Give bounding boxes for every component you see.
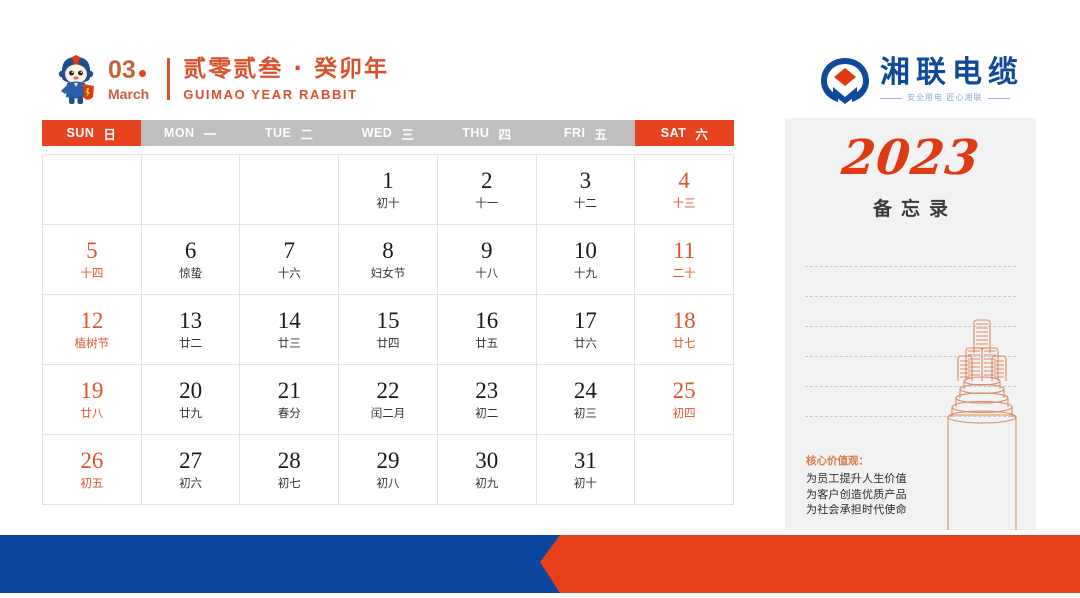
day-number: 20 bbox=[179, 379, 202, 403]
day-number: 30 bbox=[475, 449, 498, 473]
day-number: 15 bbox=[376, 309, 399, 333]
brand-text: 湘联电缆 安全用电 匠心湘联 bbox=[880, 58, 1024, 102]
day-number: 14 bbox=[278, 309, 301, 333]
day-number: 12 bbox=[80, 309, 103, 333]
core-values-title: 核心价值观： bbox=[806, 454, 986, 470]
day-cell[interactable]: 26初五 bbox=[43, 435, 142, 505]
day-number: 21 bbox=[278, 379, 301, 403]
day-cell[interactable]: 28初七 bbox=[240, 435, 339, 505]
day-cell[interactable]: 6惊蛰 bbox=[142, 225, 241, 295]
day-lunar-label: 廿二 bbox=[179, 338, 202, 350]
day-lunar-label: 春分 bbox=[278, 408, 301, 420]
day-cell[interactable]: 23初二 bbox=[438, 365, 537, 435]
day-cell[interactable]: 3十二 bbox=[537, 155, 636, 225]
weekday-cn: 一 bbox=[204, 124, 217, 143]
page-header: 03 March 贰零贰叁 · 癸卯年 GUIMAO YEAR RABBIT 湘… bbox=[0, 0, 1080, 118]
memo-label: 备忘录 bbox=[785, 194, 1036, 221]
core-values-block: 核心价值观： 为员工提升人生价值为客户创造优质产品为社会承担时代使命 bbox=[806, 454, 986, 518]
day-cell[interactable]: 29初八 bbox=[339, 435, 438, 505]
day-number: 19 bbox=[80, 379, 103, 403]
banner-left-block bbox=[0, 535, 560, 593]
weekday-en: FRI bbox=[564, 126, 586, 140]
day-cell[interactable]: 12植树节 bbox=[43, 295, 142, 365]
calendar: SUN日MON一TUE二WED三THU四FRI五SAT六 1初十2十一3十二4十… bbox=[42, 120, 734, 505]
day-number: 5 bbox=[86, 239, 98, 263]
day-number: 9 bbox=[481, 239, 493, 263]
brand-slogan-row: 安全用电 匠心湘联 bbox=[880, 94, 1024, 102]
day-cell[interactable]: 1初十 bbox=[339, 155, 438, 225]
weekday-cn: 五 bbox=[595, 124, 608, 143]
day-lunar-label: 初九 bbox=[475, 478, 498, 490]
day-lunar-label: 初三 bbox=[574, 408, 597, 420]
day-lunar-label: 初二 bbox=[475, 408, 498, 420]
day-cell[interactable]: 4十三 bbox=[635, 155, 734, 225]
day-cell-empty bbox=[43, 155, 142, 225]
month-number-text: 03 bbox=[108, 58, 136, 83]
weekday-cn: 四 bbox=[498, 124, 511, 143]
day-number: 3 bbox=[580, 169, 592, 193]
day-cell[interactable]: 14廿三 bbox=[240, 295, 339, 365]
weekday-en: SUN bbox=[66, 126, 94, 140]
day-cell[interactable]: 25初四 bbox=[635, 365, 734, 435]
day-cell[interactable]: 30初九 bbox=[438, 435, 537, 505]
core-values-line: 为员工提升人生价值 bbox=[806, 471, 986, 487]
day-lunar-label: 妇女节 bbox=[371, 268, 406, 280]
day-number: 7 bbox=[284, 239, 296, 263]
day-cell[interactable]: 21春分 bbox=[240, 365, 339, 435]
day-number: 22 bbox=[376, 379, 399, 403]
weekday-cn: 二 bbox=[300, 124, 313, 143]
day-lunar-label: 廿六 bbox=[574, 338, 597, 350]
weekday-header-thu: THU四 bbox=[437, 120, 536, 146]
day-lunar-label: 初七 bbox=[278, 478, 301, 490]
day-cell[interactable]: 10十九 bbox=[537, 225, 636, 295]
day-cell[interactable]: 2十一 bbox=[438, 155, 537, 225]
brand-slogan: 安全用电 匠心湘联 bbox=[907, 94, 983, 102]
month-dot-icon bbox=[139, 70, 146, 77]
day-lunar-label: 十一 bbox=[475, 198, 498, 210]
day-cell[interactable]: 31初十 bbox=[537, 435, 636, 505]
day-cell[interactable]: 15廿四 bbox=[339, 295, 438, 365]
day-cell-empty bbox=[635, 435, 734, 505]
day-number: 8 bbox=[382, 239, 394, 263]
weekday-en: THU bbox=[462, 126, 489, 140]
day-number: 27 bbox=[179, 449, 202, 473]
day-lunar-label: 初十 bbox=[574, 478, 597, 490]
weekday-header-fri: FRI五 bbox=[536, 120, 635, 146]
day-cell[interactable]: 13廿二 bbox=[142, 295, 241, 365]
day-grid: 1初十2十一3十二4十三5十四6惊蛰7十六8妇女节9十八10十九11二十12植树… bbox=[42, 154, 734, 505]
month-number: 03 bbox=[108, 58, 149, 83]
day-number: 6 bbox=[185, 239, 197, 263]
day-cell[interactable]: 22闰二月 bbox=[339, 365, 438, 435]
day-number: 16 bbox=[475, 309, 498, 333]
day-cell-empty bbox=[240, 155, 339, 225]
day-cell[interactable]: 20廿九 bbox=[142, 365, 241, 435]
day-lunar-label: 十六 bbox=[278, 268, 301, 280]
day-lunar-label: 十八 bbox=[475, 268, 498, 280]
day-number: 18 bbox=[673, 309, 696, 333]
day-number: 17 bbox=[574, 309, 597, 333]
day-cell[interactable]: 7十六 bbox=[240, 225, 339, 295]
day-lunar-label: 初十 bbox=[376, 198, 399, 210]
memo-panel: 2023 备忘录 bbox=[785, 118, 1036, 530]
day-lunar-label: 廿八 bbox=[80, 408, 103, 420]
day-lunar-label: 廿七 bbox=[673, 338, 696, 350]
day-number: 1 bbox=[382, 169, 394, 193]
memo-write-line[interactable] bbox=[805, 266, 1016, 296]
mascot-character-icon bbox=[52, 53, 100, 105]
day-lunar-label: 廿四 bbox=[376, 338, 399, 350]
memo-write-line[interactable] bbox=[805, 386, 1016, 416]
core-values-line: 为社会承担时代使命 bbox=[806, 502, 986, 518]
memo-write-line[interactable] bbox=[805, 356, 1016, 386]
year-block: 贰零贰叁 · 癸卯年 GUIMAO YEAR RABBIT bbox=[183, 57, 389, 100]
day-lunar-label: 十二 bbox=[574, 198, 597, 210]
weekday-cn: 日 bbox=[103, 124, 116, 143]
core-values-lines: 为员工提升人生价值为客户创造优质产品为社会承担时代使命 bbox=[806, 471, 986, 518]
weekday-cn: 六 bbox=[695, 124, 708, 143]
memo-write-line[interactable] bbox=[805, 326, 1016, 356]
weekday-header-row: SUN日MON一TUE二WED三THU四FRI五SAT六 bbox=[42, 120, 734, 146]
brand-rule-left-icon bbox=[880, 98, 902, 99]
day-number: 10 bbox=[574, 239, 597, 263]
memo-write-line[interactable] bbox=[805, 416, 1016, 446]
day-number: 13 bbox=[179, 309, 202, 333]
day-number: 24 bbox=[574, 379, 597, 403]
memo-title-art: 2023 备忘录 bbox=[785, 134, 1036, 221]
rabbit-calligraphy-icon: 2023 bbox=[839, 134, 982, 182]
month-title-block: 03 March 贰零贰叁 · 癸卯年 GUIMAO YEAR RABBIT bbox=[52, 48, 389, 110]
day-number: 2 bbox=[481, 169, 493, 193]
day-number: 28 bbox=[278, 449, 301, 473]
day-number: 31 bbox=[574, 449, 597, 473]
year-chinese: 贰零贰叁 · 癸卯年 bbox=[183, 57, 389, 82]
month-number-block: 03 March bbox=[108, 58, 149, 101]
weekday-en: TUE bbox=[265, 126, 292, 140]
day-cell[interactable]: 9十八 bbox=[438, 225, 537, 295]
weekday-cn: 三 bbox=[401, 124, 414, 143]
day-lunar-label: 十三 bbox=[673, 198, 696, 210]
day-cell[interactable]: 18廿七 bbox=[635, 295, 734, 365]
day-cell[interactable]: 11二十 bbox=[635, 225, 734, 295]
day-lunar-label: 二十 bbox=[673, 268, 696, 280]
day-lunar-label: 植树节 bbox=[75, 338, 110, 350]
weekday-header-tue: TUE二 bbox=[240, 120, 339, 146]
year-english: GUIMAO YEAR RABBIT bbox=[183, 88, 389, 101]
day-number: 23 bbox=[475, 379, 498, 403]
weekday-en: WED bbox=[362, 126, 393, 140]
day-number: 29 bbox=[376, 449, 399, 473]
weekday-en: MON bbox=[164, 126, 195, 140]
bottom-banner bbox=[0, 535, 1080, 593]
day-number: 4 bbox=[678, 169, 690, 193]
day-cell-empty bbox=[142, 155, 241, 225]
memo-lines[interactable] bbox=[805, 266, 1016, 446]
day-lunar-label: 初四 bbox=[673, 408, 696, 420]
day-lunar-label: 初五 bbox=[80, 478, 103, 490]
day-number: 25 bbox=[673, 379, 696, 403]
day-lunar-label: 廿五 bbox=[475, 338, 498, 350]
brand-logo: 湘联电缆 安全用电 匠心湘联 bbox=[818, 52, 1024, 108]
header-divider bbox=[167, 58, 170, 100]
day-lunar-label: 十四 bbox=[80, 268, 103, 280]
day-lunar-label: 廿三 bbox=[278, 338, 301, 350]
month-name: March bbox=[108, 87, 149, 101]
day-cell[interactable]: 5十四 bbox=[43, 225, 142, 295]
day-lunar-label: 廿九 bbox=[179, 408, 202, 420]
day-number: 26 bbox=[80, 449, 103, 473]
day-cell[interactable]: 24初三 bbox=[537, 365, 636, 435]
weekday-header-sat: SAT六 bbox=[635, 120, 734, 146]
day-lunar-label: 惊蛰 bbox=[179, 268, 202, 280]
day-lunar-label: 十九 bbox=[574, 268, 597, 280]
brand-rule-right-icon bbox=[988, 98, 1010, 99]
day-cell[interactable]: 19廿八 bbox=[43, 365, 142, 435]
day-cell[interactable]: 17廿六 bbox=[537, 295, 636, 365]
day-lunar-label: 初八 bbox=[376, 478, 399, 490]
day-lunar-label: 闰二月 bbox=[371, 408, 406, 420]
weekday-header-mon: MON一 bbox=[141, 120, 240, 146]
brand-name: 湘联电缆 bbox=[880, 58, 1024, 88]
weekday-header-wed: WED三 bbox=[339, 120, 438, 146]
day-cell[interactable]: 8妇女节 bbox=[339, 225, 438, 295]
weekday-header-sun: SUN日 bbox=[42, 120, 141, 146]
core-values-line: 为客户创造优质产品 bbox=[806, 487, 986, 503]
day-cell[interactable]: 16廿五 bbox=[438, 295, 537, 365]
weekday-en: SAT bbox=[661, 126, 687, 140]
day-lunar-label: 初六 bbox=[179, 478, 202, 490]
memo-write-line[interactable] bbox=[805, 296, 1016, 326]
day-number: 11 bbox=[673, 239, 695, 263]
xianglian-cable-logo-icon bbox=[818, 55, 872, 105]
day-cell[interactable]: 27初六 bbox=[142, 435, 241, 505]
